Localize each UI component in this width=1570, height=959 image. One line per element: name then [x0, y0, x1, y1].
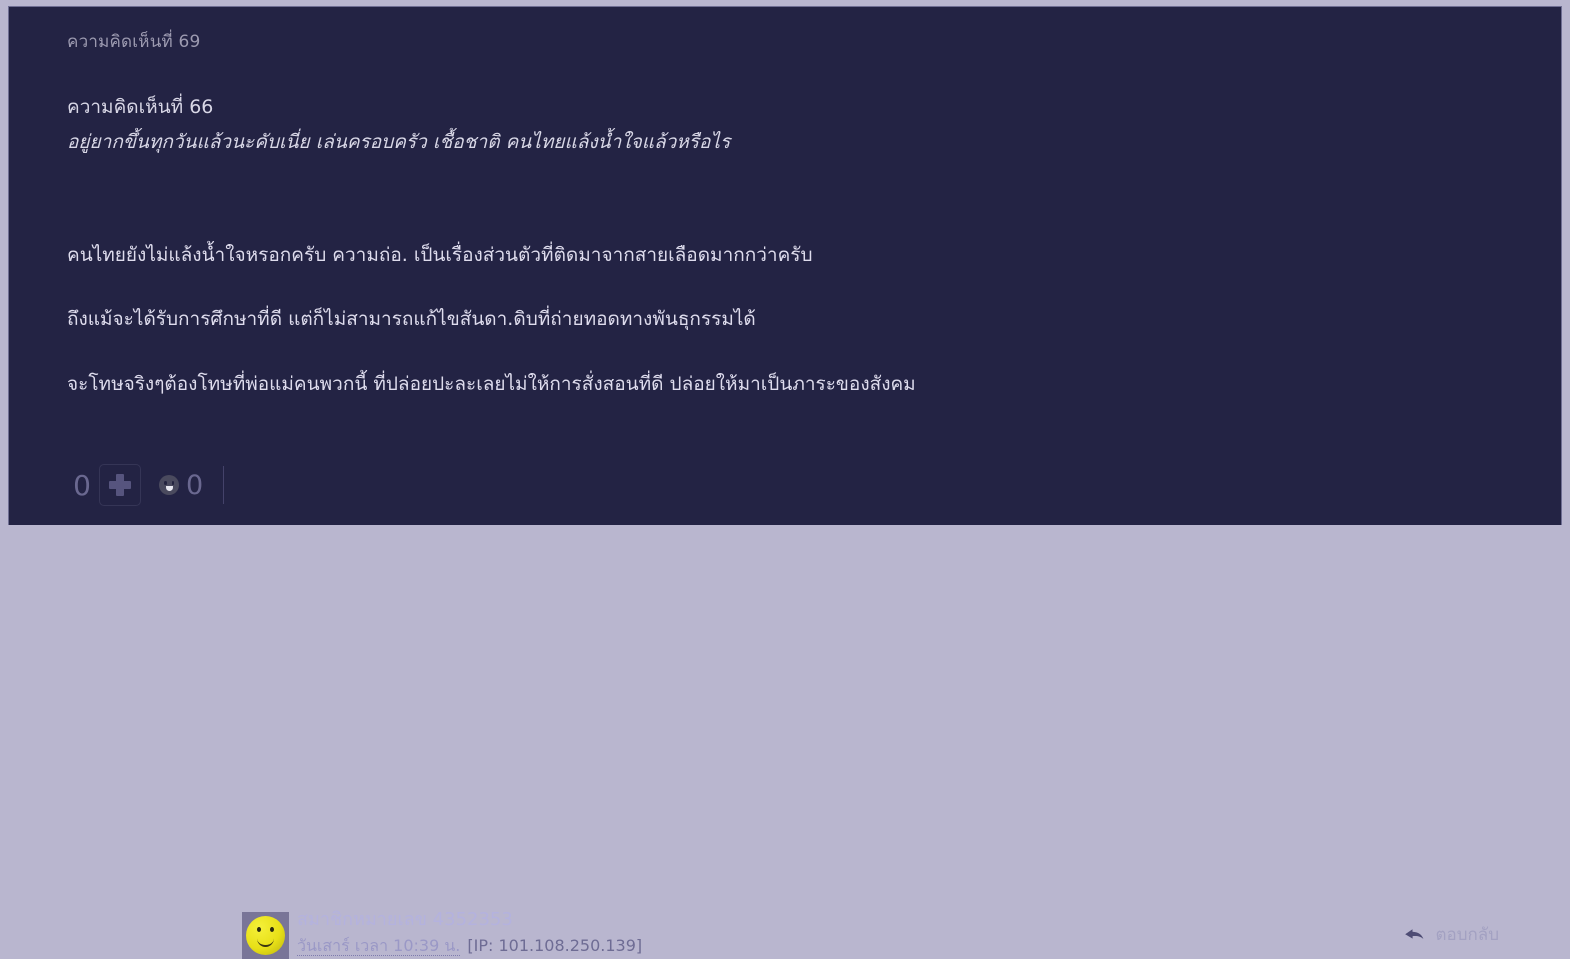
comment-card: ความคิดเห็นที่ 69 ความคิดเห็นที่ 66 อยู่…: [8, 6, 1562, 525]
author-info: สมาชิกหมายเลข 4352353 วันเสาร์ เวลา 10:3…: [297, 908, 642, 957]
post-date[interactable]: วันเสาร์ เวลา 10:39 น.: [297, 936, 460, 956]
emoji-count: 0: [186, 470, 203, 501]
quoted-comment-number: ความคิดเห็นที่ 66: [67, 93, 1487, 122]
comment-paragraph: ถึงแม้จะได้รับการศึกษาที่ดี แต่ก็ไม่สามา…: [67, 305, 1497, 334]
quoted-comment-block: ความคิดเห็นที่ 66 อยู่ยากขึ้นทุกวันแล้วน…: [67, 93, 1487, 156]
post-ip: [IP: 101.108.250.139]: [467, 936, 642, 955]
emoji-reaction-stat[interactable]: 0: [159, 470, 203, 501]
vote-count: 0: [73, 469, 91, 502]
comment-paragraph: คนไทยยังไม่แล้งน้ำใจหรอกครับ ความถ่อ. เป…: [67, 241, 1497, 270]
post-meta: วันเสาร์ เวลา 10:39 น.[IP: 101.108.250.1…: [297, 935, 642, 957]
comment-footer: 0 0 สมาชิกหมายเลข 4352353 วันเสาร์ เวลา …: [9, 453, 1561, 526]
reply-button[interactable]: ตอบกลับ: [1403, 921, 1499, 948]
quoted-comment-text: อยู่ยากขึ้นทุกวันแล้วนะคับเนี่ย เล่นครอบ…: [67, 128, 1487, 157]
comment-paragraph: จะโทษจริงๆต้องโทษที่พ่อแม่คนพวกนี้ ที่ปล…: [67, 370, 1497, 399]
reply-arrow-icon: [1403, 926, 1425, 944]
reply-label: ตอบกลับ: [1435, 921, 1499, 948]
footer-divider: [223, 466, 224, 504]
comment-number: ความคิดเห็นที่ 69: [67, 28, 201, 55]
emoji-face-icon: [159, 475, 179, 495]
comment-body: คนไทยยังไม่แล้งน้ำใจหรอกครับ ความถ่อ. เป…: [67, 241, 1497, 399]
avatar[interactable]: [242, 912, 289, 959]
vote-widget: 0 0: [73, 459, 224, 511]
plus-icon[interactable]: [99, 464, 141, 506]
author-name[interactable]: สมาชิกหมายเลข 4352353: [297, 908, 642, 932]
